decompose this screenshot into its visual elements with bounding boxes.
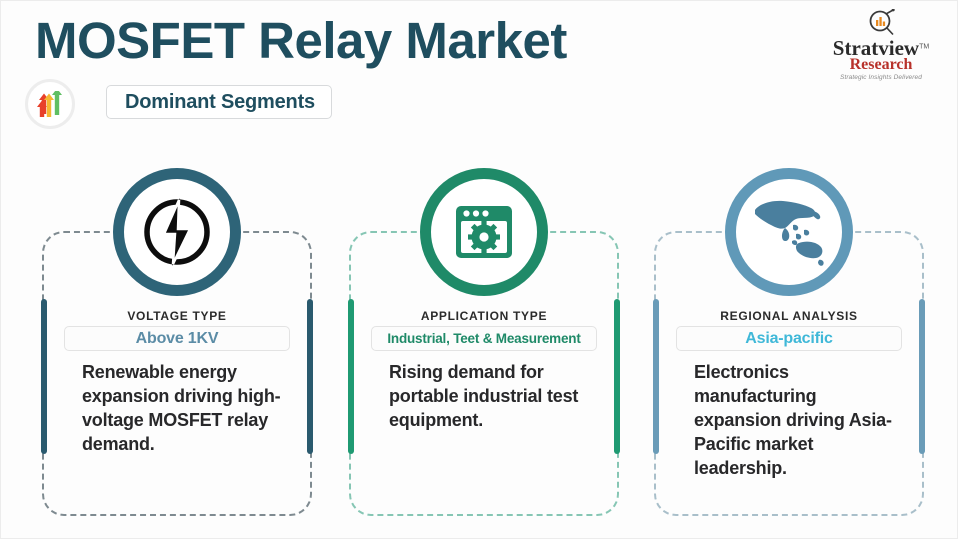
segment-card-regional-analysis: REGIONAL ANALYSIS Asia-pacific Electroni… (654, 231, 924, 516)
card-body-text: Renewable energy expansion driving high-… (82, 361, 294, 457)
badge-label: Dominant Segments (125, 91, 315, 114)
logo-name-row: StratviewTM (821, 38, 941, 59)
segment-card-voltage-type: VOLTAGE TYPE Above 1KV Renewable energy … (42, 231, 312, 516)
card-value: Above 1KV (136, 330, 219, 348)
logo-trademark: TM (919, 44, 929, 51)
card-value: Asia-pacific (745, 330, 832, 348)
magnifier-bar-chart-icon (866, 9, 896, 37)
segment-card-application-type: APPLICATION TYPE Industrial, Teet & Meas… (349, 231, 619, 516)
card-value-pill: Industrial, Teet & Measurement (371, 326, 597, 351)
card-value-pill: Asia-pacific (676, 326, 902, 351)
badge-pill: Dominant Segments (106, 85, 332, 119)
card-value-pill: Above 1KV (64, 326, 290, 351)
asia-pacific-map-icon (725, 168, 853, 296)
card-kicker: APPLICATION TYPE (351, 309, 617, 323)
page-title: MOSFET Relay Market (35, 11, 567, 70)
brand-logo: StratviewTM Research Strategic Insights … (821, 9, 941, 82)
infographic-canvas: MOSFET Relay Market Dominant Segments (0, 0, 958, 539)
growth-arrows-icon (25, 79, 75, 129)
lightning-bolt-icon (113, 168, 241, 296)
logo-tagline: Strategic Insights Delivered (821, 75, 941, 82)
card-kicker: REGIONAL ANALYSIS (656, 309, 922, 323)
card-value: Industrial, Teet & Measurement (387, 331, 580, 346)
card-body-text: Electronics manufacturing expansion driv… (694, 361, 906, 481)
browser-gear-icon (420, 168, 548, 296)
logo-name: Stratview (833, 38, 919, 59)
card-body-text: Rising demand for portable industrial te… (389, 361, 601, 433)
card-kicker: VOLTAGE TYPE (44, 309, 310, 323)
